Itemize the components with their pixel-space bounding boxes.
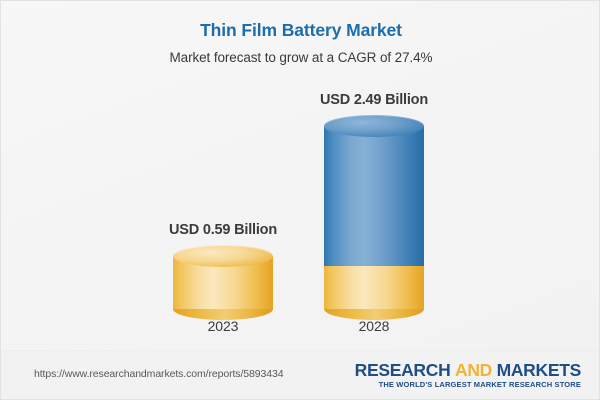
logo-word-markets: MARKETS xyxy=(497,360,581,380)
bar-value-label-2023: USD 0.59 Billion xyxy=(133,222,313,238)
segment-body xyxy=(324,266,424,309)
logo-tagline: THE WORLD'S LARGEST MARKET RESEARCH STOR… xyxy=(355,380,581,389)
category-label-2028: 2028 xyxy=(284,318,464,334)
bar-group-2028: USD 2.49 Billion 2028 xyxy=(324,126,424,309)
segment-top-ellipse xyxy=(324,115,424,137)
logo-word-and: AND xyxy=(455,360,492,380)
bar-group-2023: USD 0.59 Billion 2023 xyxy=(173,256,273,309)
chart-footer: https://www.researchandmarkets.com/repor… xyxy=(1,350,600,399)
cylinder-segment-base xyxy=(324,266,424,309)
segment-body xyxy=(324,126,424,266)
cylinder-2028[interactable] xyxy=(324,126,424,309)
brand-logo[interactable]: RESEARCH AND MARKETS THE WORLD'S LARGEST… xyxy=(355,361,581,389)
report-url[interactable]: https://www.researchandmarkets.com/repor… xyxy=(34,368,283,380)
cylinder-2023[interactable] xyxy=(173,256,273,309)
cylinder-segment-base xyxy=(173,256,273,309)
cylinder-segment-growth xyxy=(324,126,424,266)
segment-top-ellipse xyxy=(173,245,273,267)
chart-plot-area: USD 0.59 Billion 2023 USD 2.49 Billion xyxy=(1,1,600,353)
bar-value-label-2028: USD 2.49 Billion xyxy=(284,92,464,108)
logo-word-research: RESEARCH xyxy=(355,360,451,380)
chart-card: Thin Film Battery Market Market forecast… xyxy=(0,0,600,400)
logo-wordmark: RESEARCH AND MARKETS xyxy=(355,361,581,379)
